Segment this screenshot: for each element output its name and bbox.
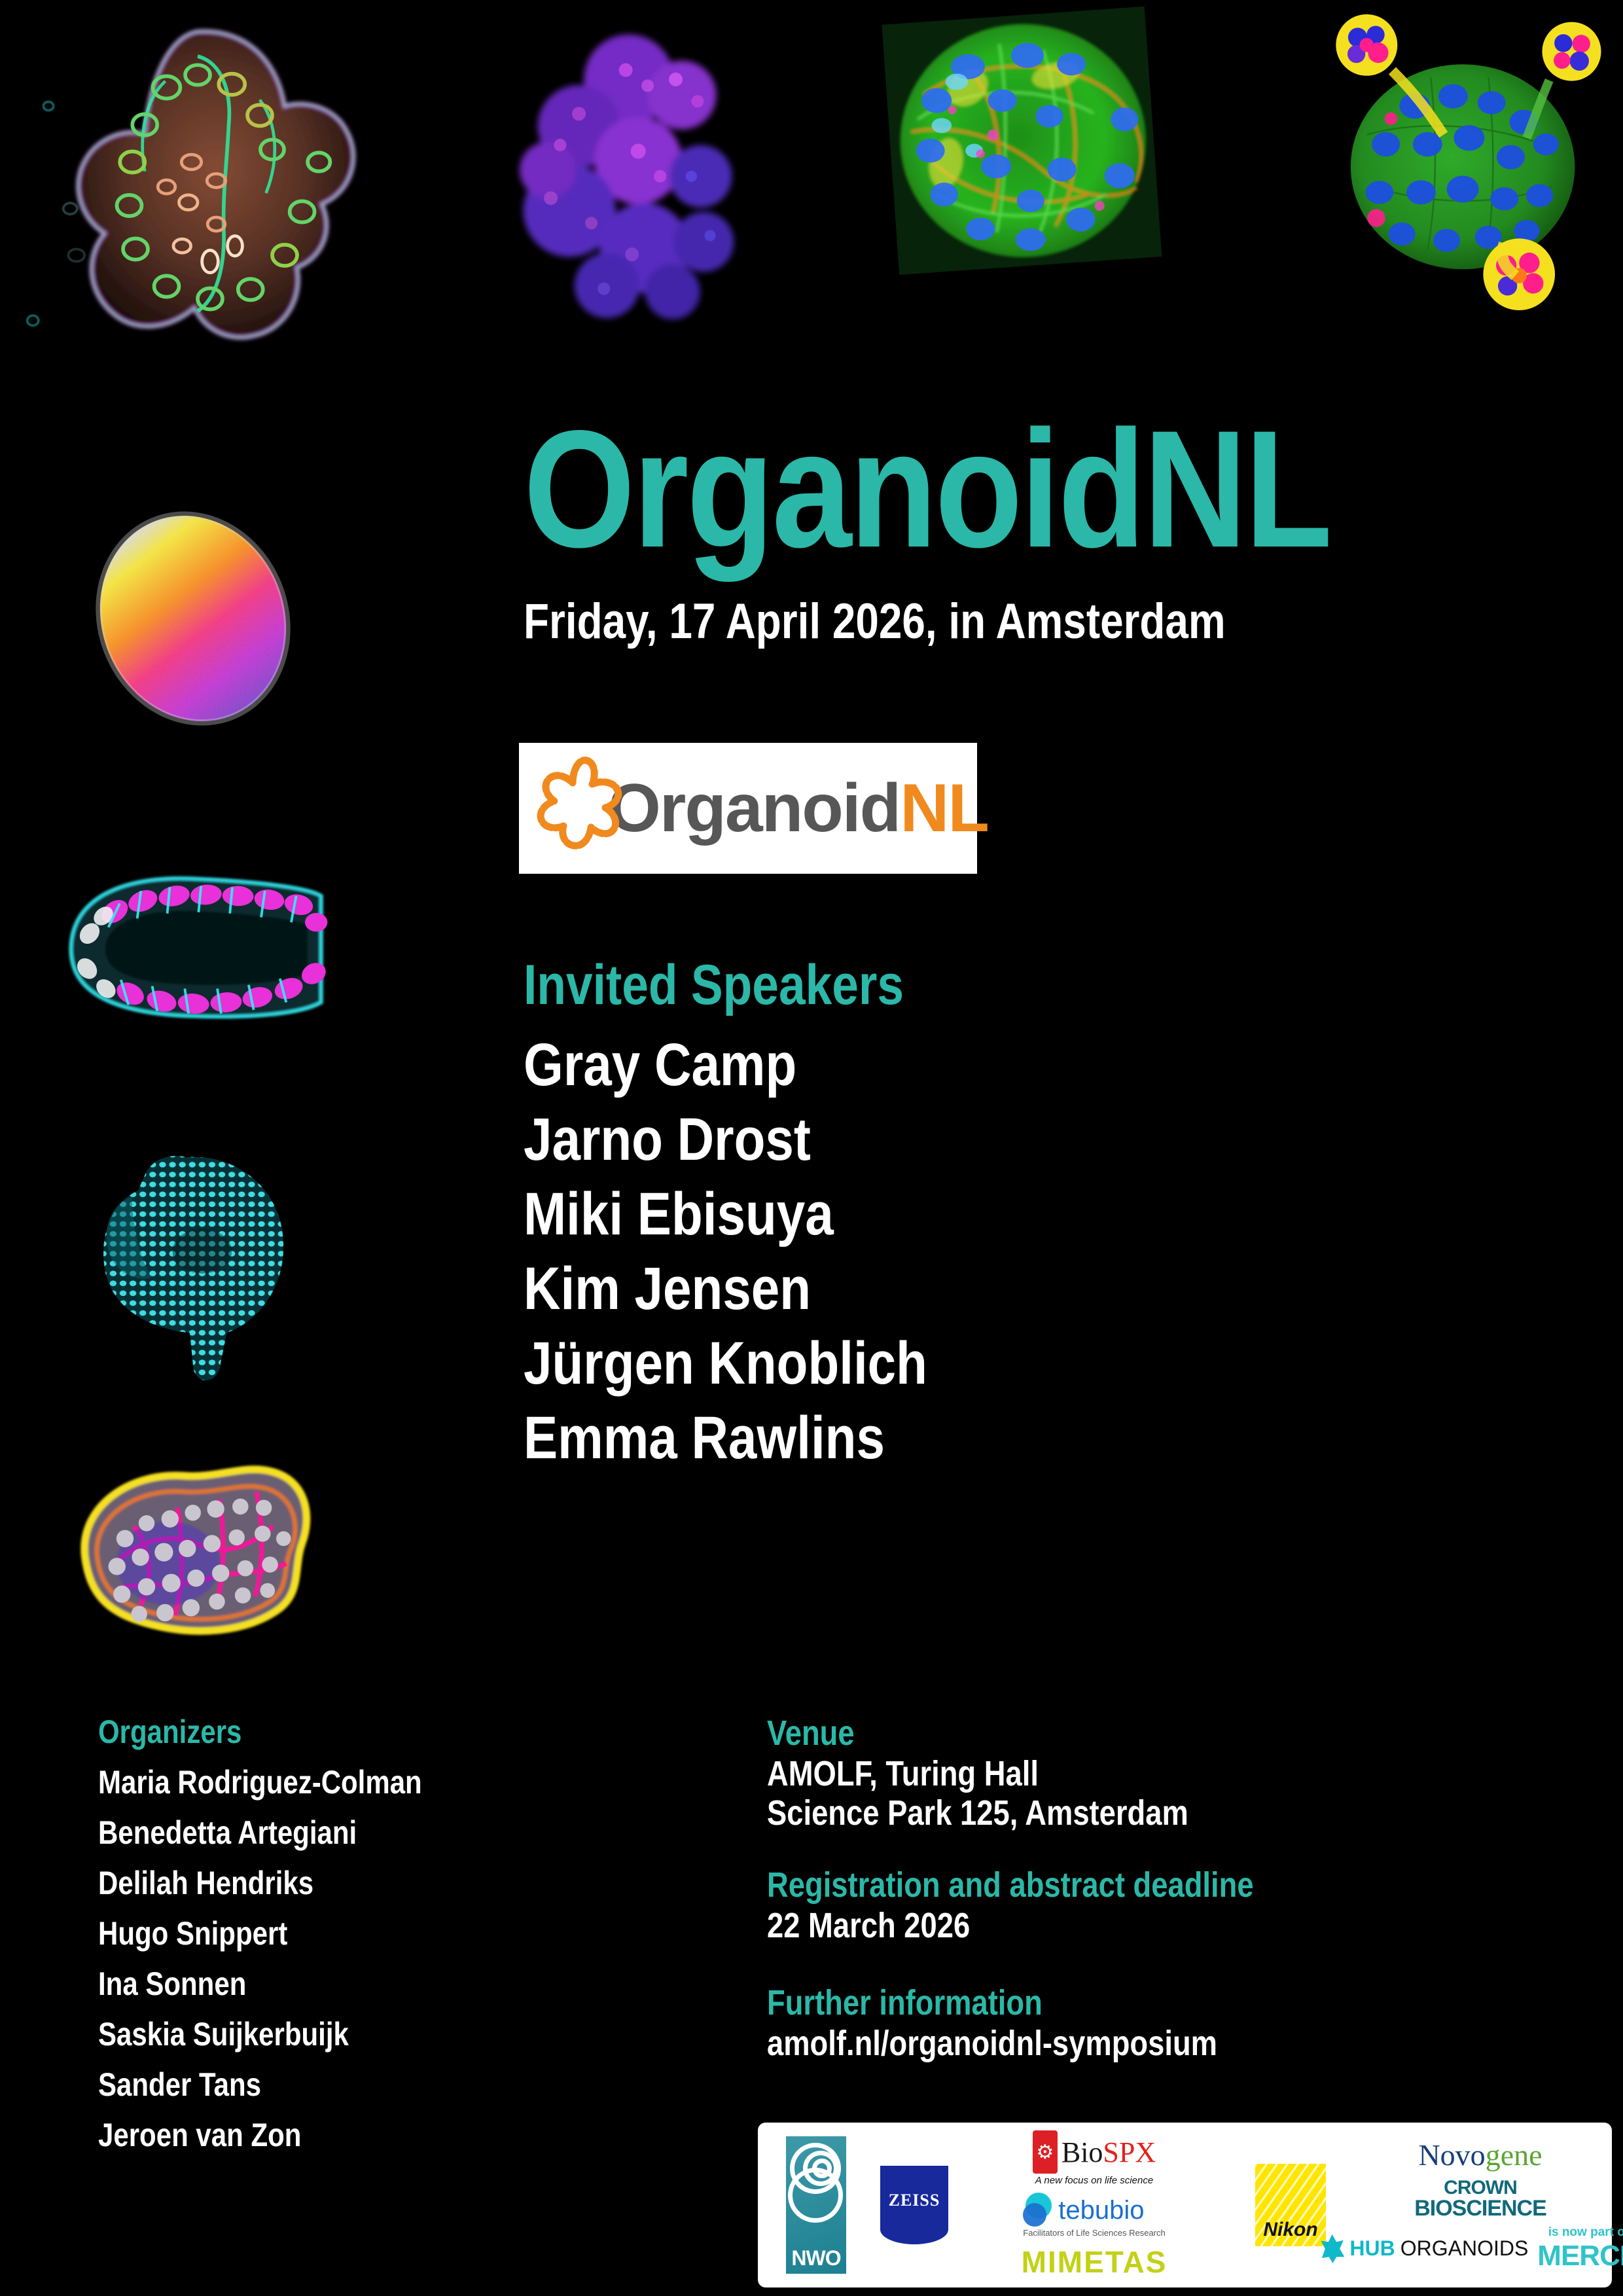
organoid-image-gradient-spheroid (92, 497, 294, 740)
sponsor-nwo: NWO (767, 2126, 865, 2284)
organizer-name: Jeroen van Zon (98, 2110, 422, 2161)
invited-speakers-heading: Invited Speakers (524, 956, 904, 1014)
organizer-name: Hugo Snippert (98, 1909, 422, 1959)
organizer-name: Saskia Suijkerbuijk (98, 2009, 422, 2060)
crown-bioscience-logo: CROWN BIOSCIENCE (1414, 2179, 1546, 2219)
nikon-logo-icon: Nikon (1255, 2164, 1326, 2246)
mimetas-logo-label: MIMETAS (1022, 2244, 1168, 2280)
further-information-heading: Further information (767, 1984, 1043, 2021)
page-title: OrganoidNL (524, 406, 1330, 573)
organizer-name: Benedetta Artegiani (98, 1808, 422, 1858)
organizer-name: Ina Sonnen (98, 1959, 422, 2009)
venue-line: Science Park 125, Amsterdam (767, 1793, 1188, 1833)
organizers-heading: Organizers (98, 1715, 241, 1749)
organoid-star-icon (527, 753, 645, 864)
hub-label-bold: HUB (1349, 2236, 1395, 2261)
tebubio-tagline: Facilitators of Life Sciences Research (1023, 2228, 1165, 2238)
registration-deadline-date: 22 March 2026 (767, 1906, 970, 1945)
sponsor-group-biospx-tebubio-mimetas: ⚙ BioSPX A new focus on life science teb… (963, 2126, 1225, 2284)
organoid-image-green-yellow-magenta (1315, 7, 1616, 314)
sponsor-group-right: Novogene CROWN BIOSCIENCE HUB ORGANOIDS … (1356, 2126, 1605, 2284)
organizer-name: Sander Tans (98, 2060, 422, 2110)
speaker-name: Emma Rawlins (524, 1401, 927, 1475)
venue-details: AMOLF, Turing Hall Science Park 125, Ams… (767, 1754, 1188, 1833)
organoid-image-purple-cluster (504, 7, 779, 327)
biospx-label-dark: Bio (1061, 2136, 1103, 2168)
novogene-label-blue: Novo (1418, 2138, 1485, 2172)
venue-line: AMOLF, Turing Hall (767, 1754, 1188, 1793)
organoid-image-green-actin-blue-nuclei (870, 7, 1185, 301)
biospx-label-red: SPX (1103, 2136, 1156, 2168)
tebubio-circles-icon (1023, 2193, 1053, 2228)
registration-date-line: 22 March 2026 (767, 1906, 970, 1945)
organoid-image-cyan-nuclei-lobe (79, 1139, 301, 1401)
novogene-label-green: gene (1486, 2138, 1543, 2172)
speaker-name: Kim Jensen (524, 1251, 927, 1326)
merck-logo: is now part of MERCK (1537, 2225, 1623, 2272)
sponsor-logo-strip: NWO ZEISS ⚙ BioSPX A new focus on life s… (758, 2123, 1612, 2287)
logo-word-gray: Organoid (608, 770, 900, 846)
organoidnl-wordmark: OrganoidNL (608, 774, 988, 842)
speaker-name: Gray Camp (524, 1028, 927, 1102)
registration-deadline-heading: Registration and abstract deadline (767, 1867, 1254, 1903)
hub-organoids-logo: HUB ORGANOIDS (1321, 2234, 1528, 2263)
organoid-image-pink-yellow-membrane (59, 1440, 321, 1656)
organoid-image-branched-intestinal (7, 7, 438, 380)
organizers-list: Maria Rodriguez-Colman Benedetta Artegia… (98, 1757, 422, 2161)
tebubio-label: tebubio (1058, 2196, 1144, 2225)
biospx-tagline: A new focus on life science (1033, 2175, 1156, 2186)
merck-pre-label: is now part of (1537, 2225, 1623, 2240)
organizer-name: Maria Rodriguez-Colman (98, 1757, 422, 1808)
invited-speakers-list: Gray Camp Jarno Drost Miki Ebisuya Kim J… (524, 1028, 927, 1475)
venue-heading: Venue (767, 1715, 855, 1751)
novogene-logo-label: Novogene (1418, 2138, 1542, 2172)
speaker-name: Jarno Drost (524, 1102, 927, 1177)
merck-label: MERCK (1537, 2240, 1623, 2272)
organoidnl-logo: OrganoidNL (519, 743, 977, 874)
sponsor-hub-merck-row: HUB ORGANOIDS is now part of MERCK (1356, 2225, 1605, 2272)
website-url[interactable]: amolf.nl/organoidnl-symposium (767, 2024, 1217, 2063)
biospx-wordmark: BioSPX (1061, 2136, 1156, 2169)
logo-word-orange: NL (900, 770, 988, 846)
sponsor-biospx: ⚙ BioSPX A new focus on life science (1033, 2130, 1156, 2186)
nikon-label: Nikon (1263, 2219, 1317, 2241)
nwo-logo-icon: NWO (786, 2136, 846, 2274)
crown-line1: CROWN (1414, 2179, 1546, 2198)
crown-line2: BIOSCIENCE (1414, 2198, 1546, 2219)
event-date-location: Friday, 17 April 2026, in Amsterdam (524, 596, 1226, 648)
zeiss-logo-icon: ZEISS (880, 2166, 948, 2244)
nwo-label: NWO (786, 2246, 846, 2270)
speaker-name: Jürgen Knoblich (524, 1326, 927, 1401)
organizer-name: Delilah Hendriks (98, 1858, 422, 1909)
hub-label-light: ORGANOIDS (1400, 2236, 1529, 2261)
organoid-image-cyan-magenta-tube (46, 844, 334, 1060)
speaker-name: Miki Ebisuya (524, 1177, 927, 1251)
biospx-logo-icon: ⚙ BioSPX (1033, 2130, 1156, 2174)
further-information-url[interactable]: amolf.nl/organoidnl-symposium (767, 2024, 1217, 2063)
dna-helix-icon: ⚙ (1033, 2130, 1058, 2174)
sponsor-zeiss: ZEISS (865, 2126, 963, 2284)
sponsor-tebubio: tebubio Facilitators of Life Sciences Re… (1023, 2193, 1165, 2238)
tebubio-logo-icon: tebubio (1023, 2193, 1165, 2228)
zeiss-label: ZEISS (889, 2191, 940, 2210)
